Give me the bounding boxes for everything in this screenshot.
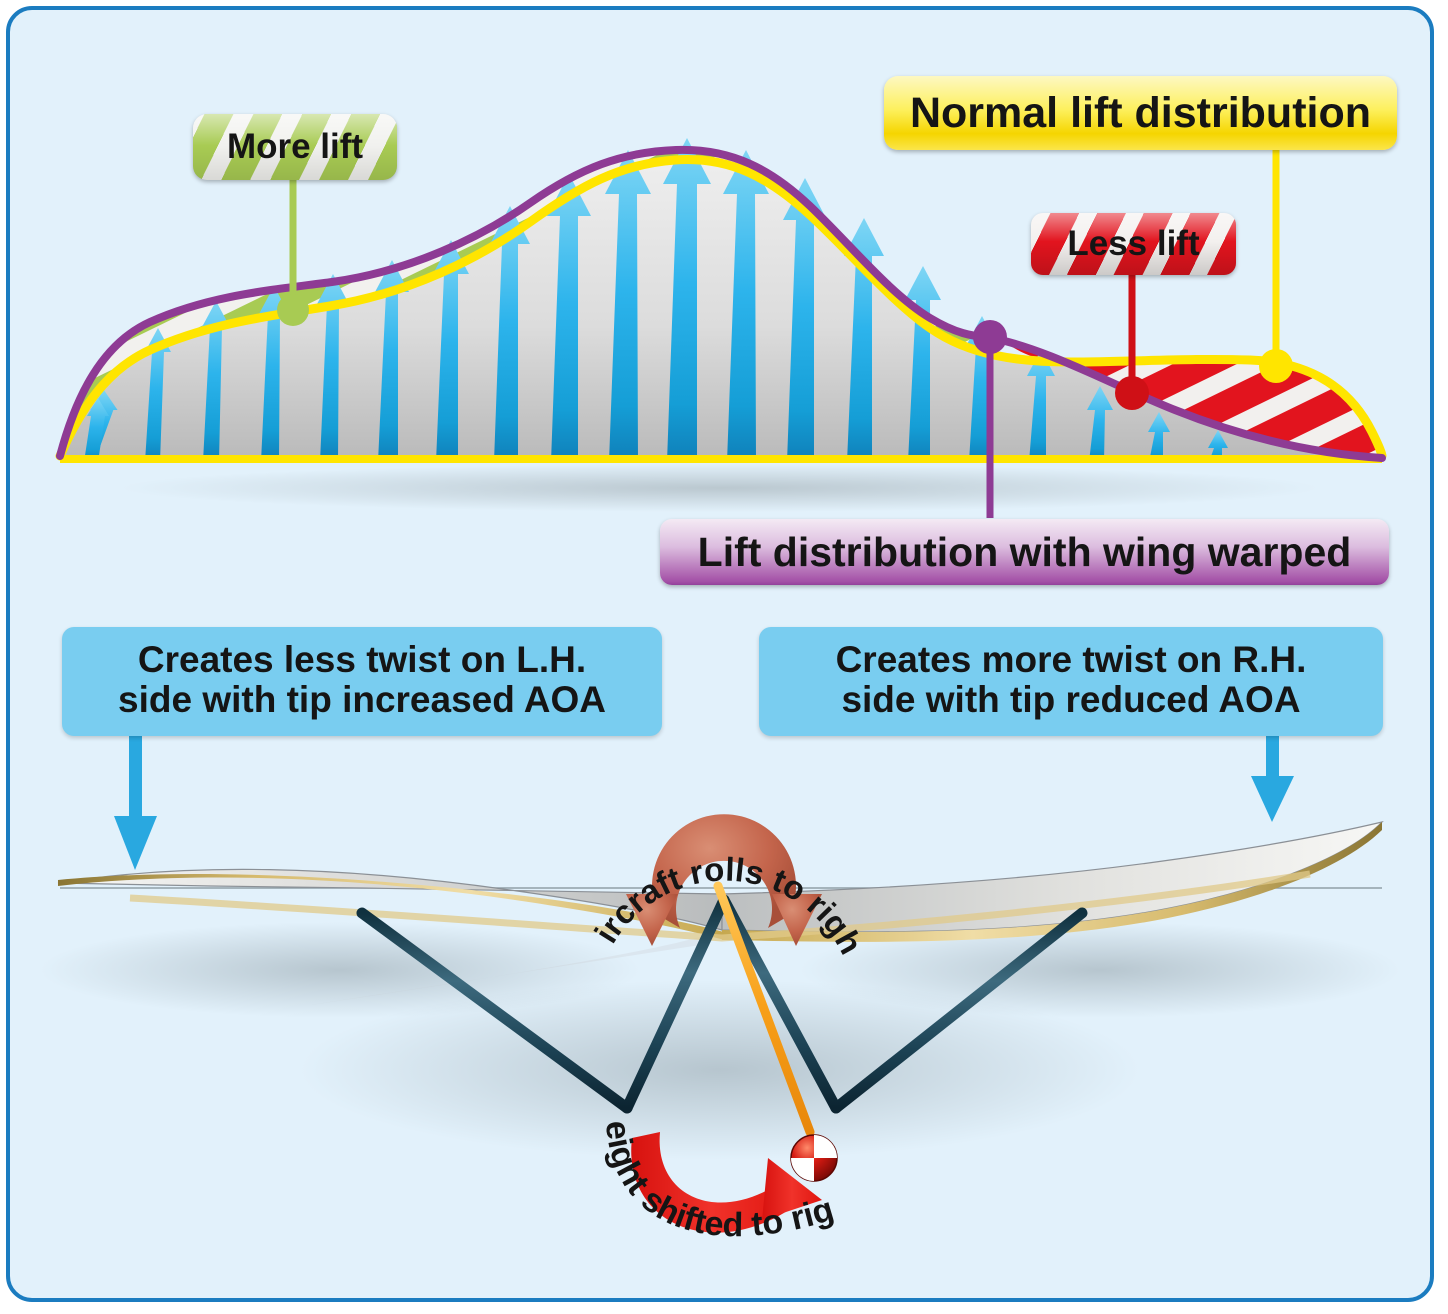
label-more-lift-text: More lift [227, 128, 363, 166]
callout-right-hand-side[interactable]: Creates more twist on R.H. side with tip… [759, 627, 1383, 736]
callout-left-hand-side[interactable]: Creates less twist on L.H. side with tip… [62, 627, 662, 736]
label-less-lift[interactable]: Less lift [1031, 213, 1236, 275]
left-callout-arrow [114, 736, 157, 870]
figure-canvas: Aircraft rolls to right Weight shifted t… [0, 0, 1448, 1314]
center-of-gravity-icon [791, 1135, 837, 1181]
label-more-lift[interactable]: More lift [193, 114, 397, 180]
label-less-lift-text: Less lift [1067, 225, 1199, 263]
label-lift-distribution-warped-text: Lift distribution with wing warped [698, 530, 1352, 574]
callout-right-hand-side-text: Creates more twist on R.H. side with tip… [836, 640, 1307, 720]
label-normal-lift-distribution-text: Normal lift distribution [910, 90, 1371, 136]
glider-shadow-center [300, 980, 1140, 1160]
label-normal-lift-distribution[interactable]: Normal lift distribution [884, 76, 1397, 150]
right-callout-arrow [1251, 736, 1294, 822]
figure-frame: Aircraft rolls to right Weight shifted t… [6, 6, 1434, 1302]
callout-left-hand-side-text: Creates less twist on L.H. side with tip… [118, 640, 606, 720]
label-lift-distribution-warped[interactable]: Lift distribution with wing warped [660, 519, 1389, 585]
